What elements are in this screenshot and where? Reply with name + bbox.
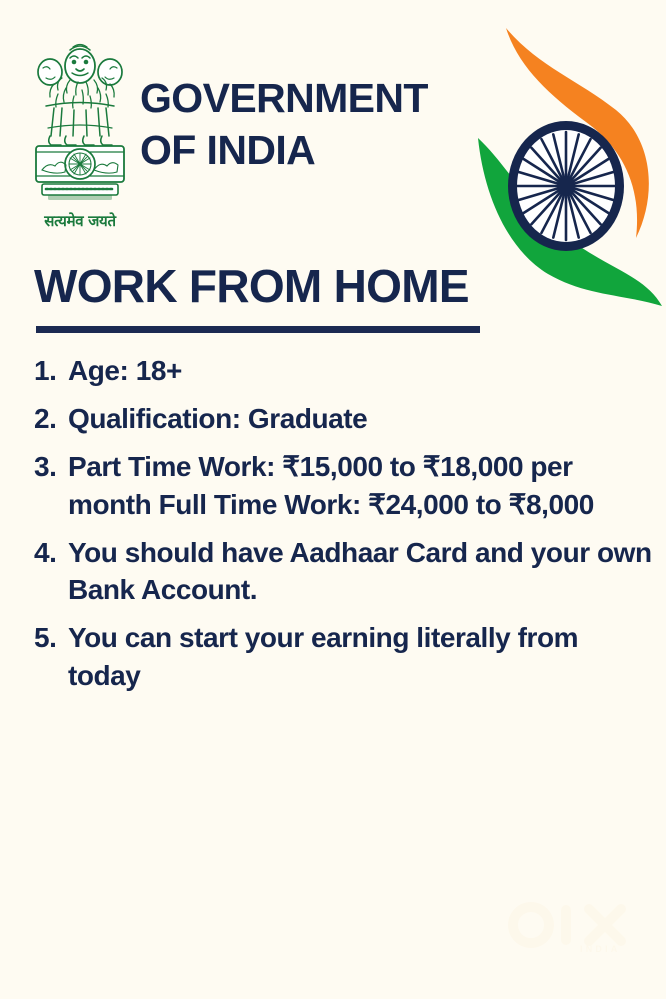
- header-block: सत्यमेव जयते GOVERNMENT OF INDIA: [0, 0, 666, 262]
- list-item-number: 4.: [34, 534, 68, 571]
- title-underline-rule: [36, 326, 480, 333]
- indian-flag-icon: [466, 18, 666, 318]
- state-emblem-icon: सत्यमेव जयते: [20, 38, 140, 248]
- government-of-india-title: GOVERNMENT OF INDIA: [140, 72, 470, 177]
- watermark-region-label: INDIA: [580, 944, 621, 954]
- list-item-text: Part Time Work: ₹15,000 to ₹18,000 per m…: [68, 448, 654, 522]
- govt-title-line-2: OF INDIA: [140, 124, 470, 176]
- list-item-text: You should have Aadhaar Card and your ow…: [68, 534, 654, 608]
- list-item-number: 1.: [34, 352, 68, 389]
- list-item: 1. Age: 18+: [34, 352, 654, 389]
- olx-india-watermark: INDIA: [505, 895, 645, 973]
- list-item-number: 3.: [34, 448, 68, 485]
- list-item-text: Age: 18+: [68, 352, 654, 389]
- govt-title-line-1: GOVERNMENT: [140, 72, 470, 124]
- requirements-list: 1. Age: 18+ 2. Qualification: Graduate 3…: [34, 352, 654, 705]
- list-item: 3. Part Time Work: ₹15,000 to ₹18,000 pe…: [34, 448, 654, 522]
- poster-canvas: सत्यमेव जयते GOVERNMENT OF INDIA: [0, 0, 666, 999]
- list-item-number: 5.: [34, 619, 68, 656]
- page-title: WORK FROM HOME: [34, 263, 469, 309]
- list-item: 5. You can start your earning literally …: [34, 619, 654, 693]
- list-item-text: You can start your earning literally fro…: [68, 619, 654, 693]
- list-item: 2. Qualification: Graduate: [34, 400, 654, 437]
- list-item-number: 2.: [34, 400, 68, 437]
- list-item-text: Qualification: Graduate: [68, 400, 654, 437]
- emblem-motto-text: सत्यमेव जयते: [20, 214, 140, 229]
- list-item: 4. You should have Aadhaar Card and your…: [34, 534, 654, 608]
